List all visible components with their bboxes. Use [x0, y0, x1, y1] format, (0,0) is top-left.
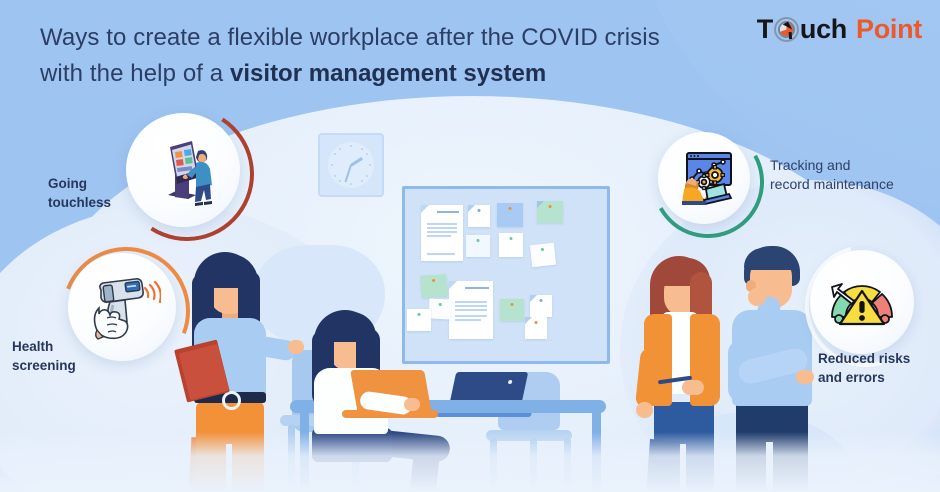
- logo-word-point: Point: [856, 16, 922, 43]
- logo-letters-uch: uch: [800, 16, 847, 43]
- headline-line-1: Ways to create a flexible workplace afte…: [40, 20, 680, 56]
- feature-reduced-risks-errors[interactable]: Reduced risks and errors: [810, 250, 940, 420]
- page-title: Ways to create a flexible workplace afte…: [40, 20, 680, 93]
- infographic-canvas: Ways to create a flexible workplace afte…: [0, 0, 940, 492]
- feature-health-screening[interactable]: Health screening: [68, 253, 308, 383]
- headline-line-2-prefix: with the help of a: [40, 60, 230, 87]
- pinboard-document: [421, 205, 463, 261]
- logo-word-touch: T uch: [757, 16, 847, 43]
- headline-emphasis: visitor management system: [230, 60, 546, 87]
- badge-circle: [810, 250, 914, 354]
- feature-label: Health screening: [12, 338, 102, 375]
- badge-circle: [126, 113, 240, 227]
- pinboard-note: [468, 205, 490, 227]
- pinboard-note: [466, 235, 490, 257]
- feature-label: Reduced risks and errors: [818, 350, 940, 387]
- target-cursor-icon: [774, 17, 799, 42]
- pinboard-note: [497, 203, 523, 227]
- pinboard-note: [530, 295, 552, 317]
- pinboard-note: [500, 299, 524, 321]
- feature-label: Going touchless: [48, 175, 128, 212]
- pinboard-note: [530, 243, 556, 267]
- analytics-dashboard-icon: [673, 147, 735, 209]
- brand-logo[interactable]: T uch Point: [757, 16, 922, 43]
- pinboard-note: [420, 274, 447, 298]
- badge-circle: [658, 132, 750, 224]
- floor-fade: [0, 432, 940, 492]
- risk-gauge-warning-icon: [826, 271, 898, 333]
- kiosk-touchscreen-icon: [146, 133, 220, 207]
- infrared-thermometer-icon: [83, 268, 161, 346]
- logo-letter-t: T: [757, 16, 773, 43]
- pinboard-note: [537, 201, 563, 223]
- headline-line-2: with the help of a visitor management sy…: [40, 56, 680, 92]
- feature-tracking-record-maintenance[interactable]: Tracking and record maintenance: [658, 132, 938, 252]
- pinboard-note: [499, 233, 523, 257]
- feature-going-touchless[interactable]: Going touchless: [126, 113, 366, 243]
- feature-label: Tracking and record maintenance: [770, 156, 940, 195]
- pinboard-note: [525, 317, 547, 339]
